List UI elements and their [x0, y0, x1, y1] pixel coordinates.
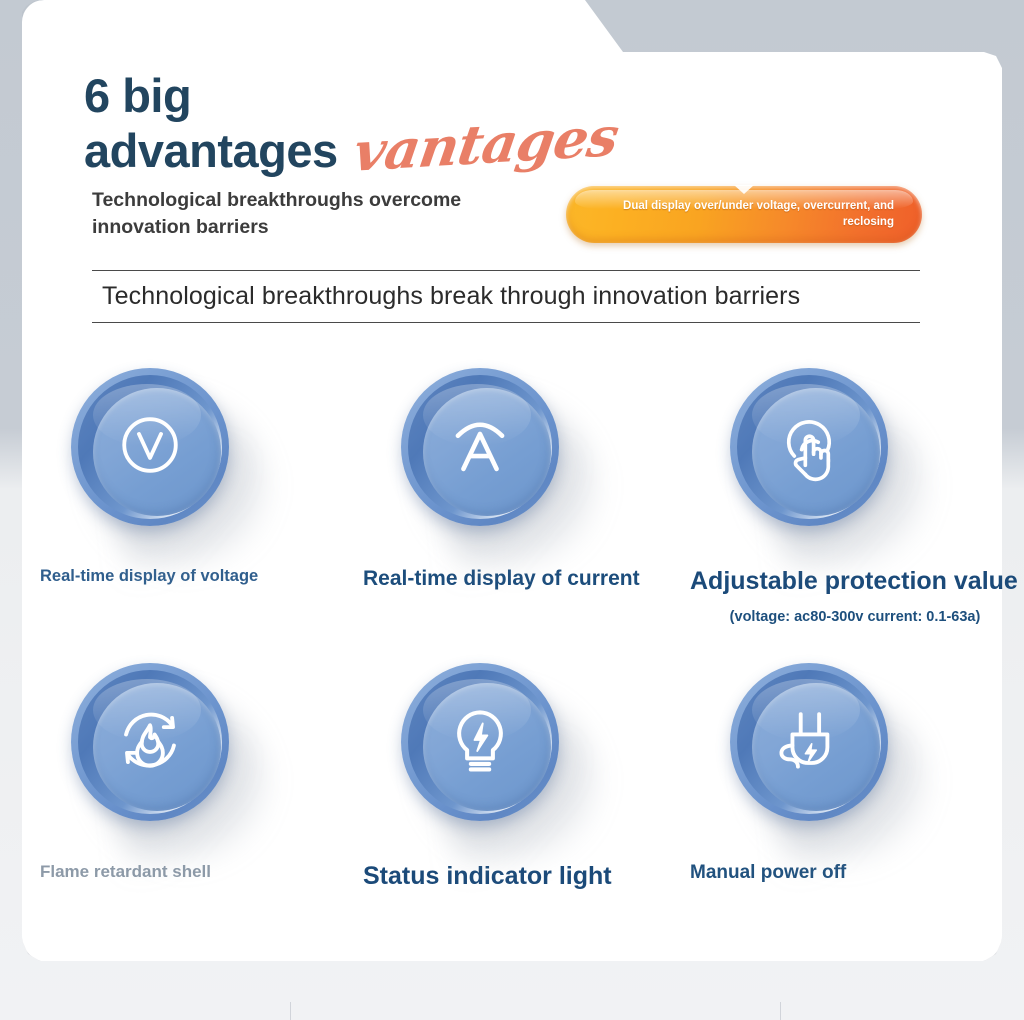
feature-icon-disc	[71, 368, 251, 548]
page-seam-right	[780, 1002, 781, 1020]
feature-icon-disc	[71, 663, 251, 843]
badge-notch-icon	[734, 185, 754, 194]
feature-icon-disc	[730, 663, 910, 843]
feature-item-flame-retardant[interactable]: Flame retardant shell	[38, 663, 368, 882]
disc-outer	[71, 663, 229, 821]
script-overlay-text: vantages	[350, 104, 623, 184]
tagline-text: Technological breakthroughs break throug…	[92, 282, 800, 311]
disc-outer	[401, 663, 559, 821]
voltage-v-icon	[104, 399, 196, 491]
feature-item-current[interactable]: Real-time display of current	[363, 368, 693, 592]
disc-outer	[730, 368, 888, 526]
subtitle: Technological breakthroughs overcome inn…	[92, 187, 461, 241]
touch-hand-icon	[763, 399, 855, 491]
feature-item-status-light[interactable]: Status indicator light	[363, 663, 693, 892]
feature-item-voltage[interactable]: Real-time display of voltage	[38, 368, 368, 587]
feature-item-adjustable[interactable]: Adjustable protection value (voltage: ac…	[690, 368, 1020, 625]
disc-outer	[401, 368, 559, 526]
feature-subcaption: (voltage: ac80-300v current: 0.1-63a)	[690, 609, 1020, 625]
flame-retardant-icon	[104, 694, 196, 786]
feature-item-manual-power-off[interactable]: Manual power off	[690, 663, 1020, 885]
tagline-band: Technological breakthroughs break throug…	[92, 270, 920, 323]
feature-icon-disc	[401, 368, 581, 548]
page-title: 6 big advantages	[84, 68, 338, 179]
badge-label: Dual display over/under voltage, overcur…	[594, 199, 894, 230]
feature-icon-disc	[401, 663, 581, 843]
light-bulb-icon	[434, 694, 526, 786]
header-section: vantages 6 big advantages Technological …	[0, 0, 1024, 340]
current-a-icon	[434, 399, 526, 491]
page-background: vantages 6 big advantages Technological …	[0, 0, 1024, 1020]
page-seam-left	[290, 1002, 291, 1020]
highlight-badge[interactable]: Dual display over/under voltage, overcur…	[566, 186, 922, 243]
disc-outer	[730, 663, 888, 821]
power-plug-icon	[763, 694, 855, 786]
feature-grid: Real-time display of voltage	[0, 368, 1024, 948]
feature-icon-disc	[730, 368, 910, 548]
disc-outer	[71, 368, 229, 526]
